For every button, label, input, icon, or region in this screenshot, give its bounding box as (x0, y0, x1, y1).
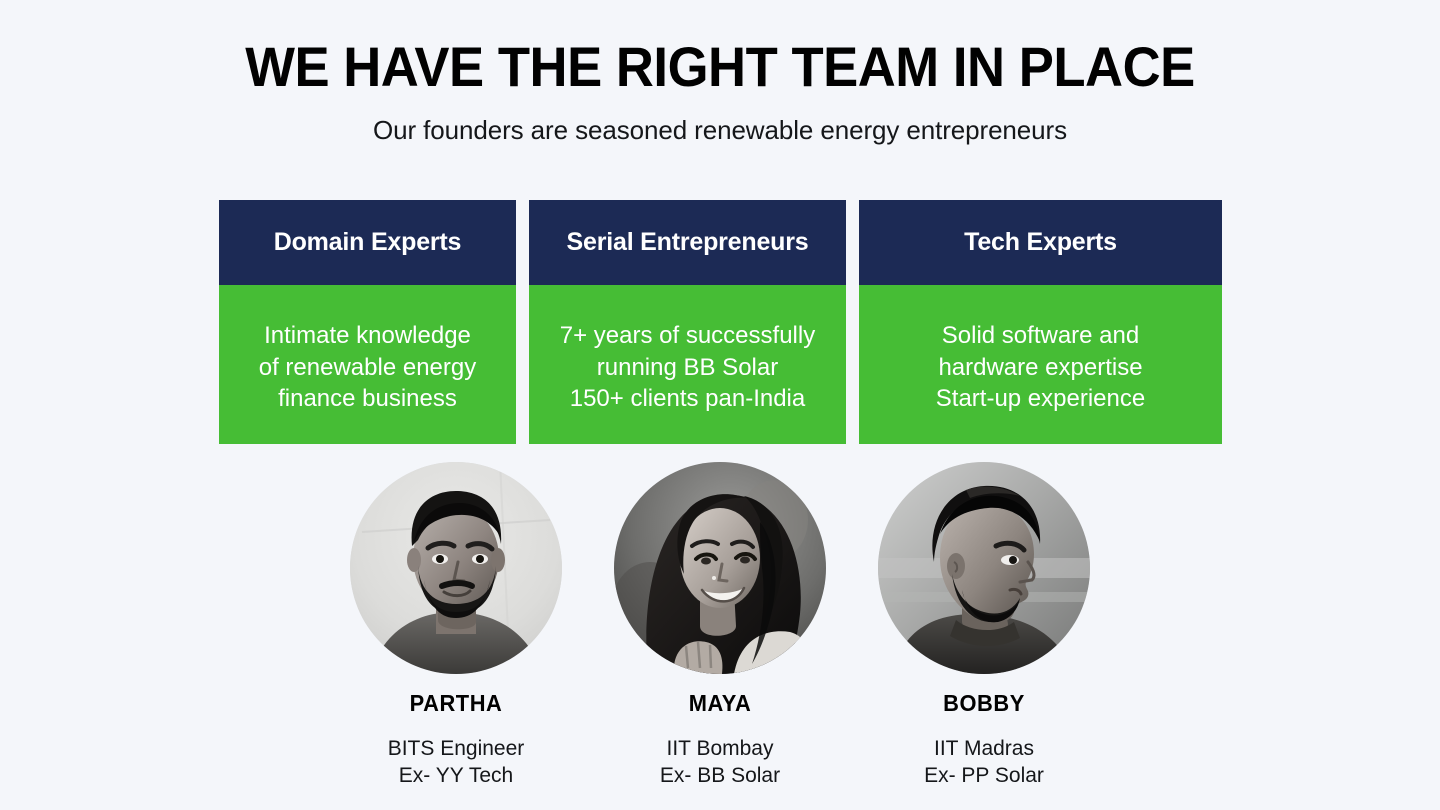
page-subtitle: Our founders are seasoned renewable ener… (0, 115, 1440, 146)
pillar-card-line: Intimate knowledge (259, 320, 476, 352)
pillar-card-heading: Tech Experts (859, 200, 1222, 285)
pillar-card-line: Solid software and (936, 320, 1145, 352)
pillar-card-heading: Serial Entrepreneurs (529, 200, 846, 285)
team-member-maya: MAYA IIT Bombay Ex- BB Solar (614, 462, 826, 790)
pillar-card-domain-experts: Domain Experts Intimate knowledge of ren… (219, 200, 516, 444)
portrait-photo-partha (350, 462, 562, 674)
pillar-card-heading: Domain Experts (219, 200, 516, 285)
pillar-card-line: finance business (259, 383, 476, 415)
pillar-card-body: 7+ years of successfully running BB Sola… (529, 285, 846, 444)
pillar-card-line: running BB Solar (560, 352, 815, 384)
slide-root: { "header": { "title": "WE HAVE THE RIGH… (0, 0, 1440, 810)
team-member-partha: PARTHA BITS Engineer Ex- YY Tech (350, 462, 562, 790)
slide-header: WE HAVE THE RIGHT TEAM IN PLACE Our foun… (0, 0, 1440, 146)
team-member-name: MAYA (619, 690, 820, 717)
team-member-line-2: Ex- PP Solar (878, 762, 1090, 789)
pillar-card-line: 7+ years of successfully (560, 320, 815, 352)
pillar-card-tech-experts: Tech Experts Solid software and hardware… (859, 200, 1222, 444)
pillar-card-body: Intimate knowledge of renewable energy f… (219, 285, 516, 444)
team-member-group: PARTHA BITS Engineer Ex- YY Tech (0, 462, 1440, 790)
pillar-card-group: Domain Experts Intimate knowledge of ren… (219, 200, 1222, 444)
portrait-photo-bobby (878, 462, 1090, 674)
pillar-card-line: 150+ clients pan-India (560, 383, 815, 415)
team-member-line-1: IIT Madras (878, 735, 1090, 762)
team-member-bobby: BOBBY IIT Madras Ex- PP Solar (878, 462, 1090, 790)
pillar-card-line: Start-up experience (936, 383, 1145, 415)
pillar-card-body: Solid software and hardware expertise St… (859, 285, 1222, 444)
portrait-photo-maya (614, 462, 826, 674)
team-member-line-2: Ex- BB Solar (614, 762, 826, 789)
team-member-line-1: BITS Engineer (350, 735, 562, 762)
pillar-card-serial-entrepreneurs: Serial Entrepreneurs 7+ years of success… (529, 200, 846, 444)
team-member-line-1: IIT Bombay (614, 735, 826, 762)
pillar-card-line: hardware expertise (936, 352, 1145, 384)
page-title: WE HAVE THE RIGHT TEAM IN PLACE (43, 38, 1397, 97)
team-member-name: PARTHA (355, 690, 556, 717)
team-member-name: BOBBY (883, 690, 1084, 717)
pillar-card-line: of renewable energy (259, 352, 476, 384)
team-member-line-2: Ex- YY Tech (350, 762, 562, 789)
